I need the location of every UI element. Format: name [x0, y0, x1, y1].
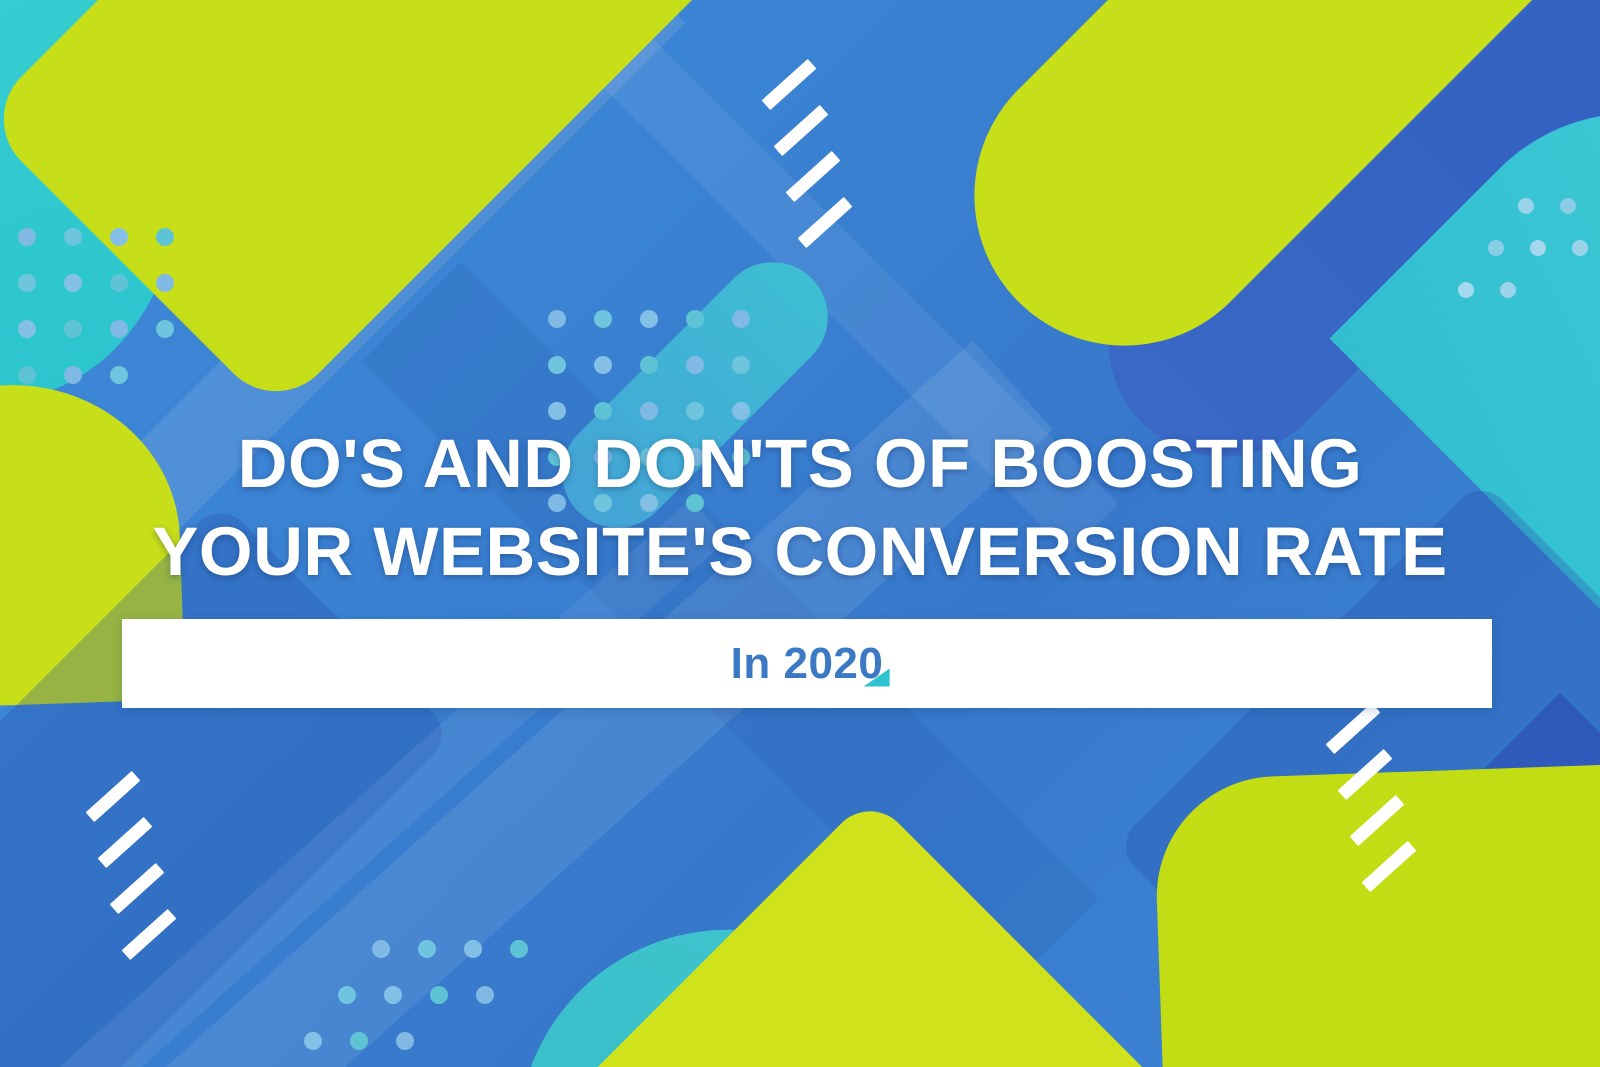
decor-dash	[762, 59, 817, 110]
decor-dash	[1338, 749, 1393, 800]
lime-diamond-bottom-center	[545, 795, 1196, 1067]
decor-dot	[1488, 240, 1504, 256]
decor-dot	[110, 320, 128, 338]
decor-dot	[372, 940, 390, 958]
decor-dot	[64, 274, 82, 292]
subtitle-label: In 2020	[731, 639, 884, 688]
decor-dash	[1362, 841, 1417, 892]
decor-dot	[1560, 198, 1576, 214]
decor-dot	[156, 274, 174, 292]
decor-dot	[686, 310, 704, 328]
teal-blob-left	[0, 0, 180, 400]
decor-dot	[1518, 198, 1534, 214]
decor-dot	[110, 228, 128, 246]
decor-dot	[18, 320, 36, 338]
subtitle-text: In 2020	[731, 639, 884, 689]
decor-dash	[86, 771, 141, 822]
decor-dot	[464, 940, 482, 958]
decor-dot	[304, 1032, 322, 1050]
decor-dot	[64, 228, 82, 246]
decor-dot	[338, 986, 356, 1004]
page-title: DO'S AND DON'TS OF BOOSTING YOUR WEBSITE…	[0, 420, 1600, 596]
diagonal-stripe-4	[1011, 0, 1600, 289]
decor-dot	[1500, 282, 1516, 298]
decor-dash	[98, 817, 153, 868]
decor-dot	[1572, 240, 1588, 256]
decor-dot	[548, 356, 566, 374]
decor-dash	[110, 863, 165, 914]
subtitle-banner: In 2020	[122, 619, 1492, 708]
headline-line-2: YOUR WEBSITE'S CONVERSION RATE	[0, 508, 1600, 596]
decor-dot	[350, 1032, 368, 1050]
decor-dot	[156, 320, 174, 338]
decor-dot	[476, 986, 494, 1004]
decor-dot	[110, 366, 128, 384]
decor-dot	[64, 366, 82, 384]
decor-dash	[786, 151, 841, 202]
decor-dot	[686, 402, 704, 420]
decor-dot	[110, 274, 128, 292]
decor-dot	[594, 356, 612, 374]
lime-capsule-top-right	[912, 0, 1600, 408]
decor-dash	[1350, 795, 1405, 846]
decor-dash	[122, 909, 177, 960]
decor-dot	[548, 310, 566, 328]
decor-dot	[732, 356, 750, 374]
decor-dot	[418, 940, 436, 958]
decor-dot	[732, 310, 750, 328]
decor-dot	[18, 228, 36, 246]
decor-dot	[548, 402, 566, 420]
decor-dot	[594, 402, 612, 420]
decor-dot	[430, 986, 448, 1004]
decor-dot	[1458, 282, 1474, 298]
decor-dot	[18, 274, 36, 292]
decor-dot	[640, 402, 658, 420]
decor-dot	[640, 310, 658, 328]
teal-arc-bottom-center	[483, 891, 977, 1067]
decor-dash	[1326, 703, 1381, 754]
decor-dot	[396, 1032, 414, 1050]
decor-dot	[1530, 240, 1546, 256]
headline-line-1: DO'S AND DON'TS OF BOOSTING	[0, 420, 1600, 508]
decor-dot	[640, 356, 658, 374]
decor-dot	[732, 402, 750, 420]
lime-shape-bottom-right	[1153, 760, 1600, 1067]
decor-dot	[510, 940, 528, 958]
decor-dot	[18, 366, 36, 384]
decor-dash	[798, 197, 853, 248]
decor-dot	[686, 356, 704, 374]
decor-dash	[774, 105, 829, 156]
decor-dot	[156, 228, 174, 246]
deep-blue-wedge-bottom-right	[1263, 693, 1600, 1067]
lime-rounded-rect-top-left	[0, 0, 771, 416]
decor-dot	[594, 310, 612, 328]
decor-dot	[384, 986, 402, 1004]
decor-dot	[64, 320, 82, 338]
poster-canvas: DO'S AND DON'TS OF BOOSTING YOUR WEBSITE…	[0, 0, 1600, 1067]
